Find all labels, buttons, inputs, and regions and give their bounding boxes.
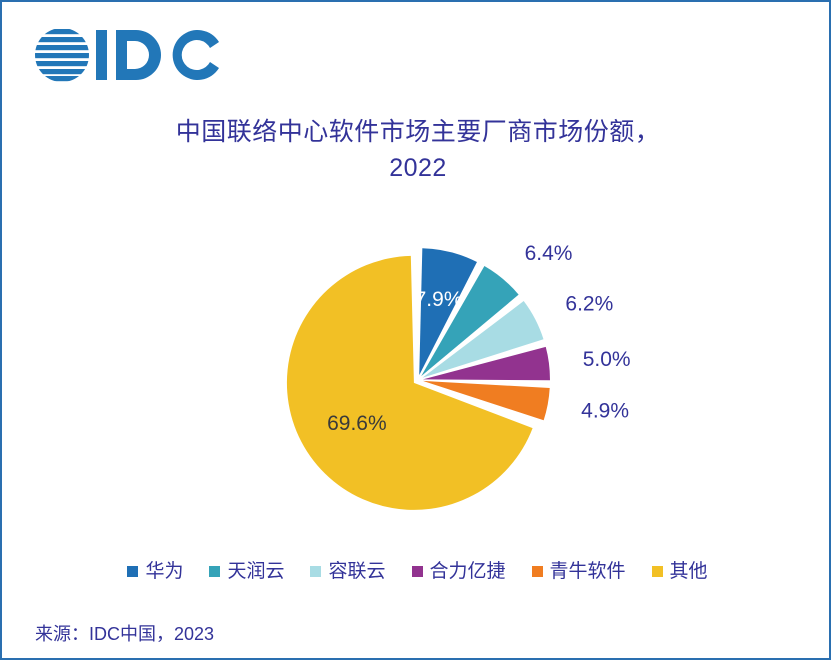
chart-page: 中国联络中心软件市场主要厂商市场份额， 2022 7.9%6.4%6.2%5.0… [0, 0, 831, 660]
legend-label: 容联云 [328, 562, 385, 581]
chart-legend: 华为天润云容联云合力亿捷青牛软件其他 [2, 562, 831, 581]
idc-wordmark [96, 30, 219, 80]
legend-item[interactable]: 天润云 [209, 562, 284, 581]
pie-slice-label: 7.9% [415, 288, 463, 311]
legend-swatch-icon [127, 566, 138, 577]
source-note: 来源：IDC中国，2023 [35, 620, 214, 646]
legend-label: 天润云 [227, 562, 284, 581]
legend-item[interactable]: 合力亿捷 [412, 562, 506, 581]
legend-swatch-icon [532, 566, 543, 577]
legend-label: 青牛软件 [550, 562, 626, 581]
pie-slice-label: 69.6% [327, 412, 387, 435]
legend-swatch-icon [652, 566, 663, 577]
legend-swatch-icon [412, 566, 423, 577]
pie-slice[interactable] [423, 381, 550, 420]
pie-data-labels: 7.9%6.4%6.2%5.0%4.9%69.6% [327, 242, 630, 435]
legend-label: 其他 [670, 562, 708, 581]
legend-swatch-icon [310, 566, 321, 577]
legend-swatch-icon [209, 566, 220, 577]
pie-slice-label: 6.2% [565, 293, 613, 316]
pie-slice-label: 6.4% [525, 242, 573, 265]
legend-item[interactable]: 华为 [127, 562, 183, 581]
pie-slice-label: 5.0% [583, 348, 631, 371]
chart-title: 中国联络中心软件市场主要厂商市场份额， 2022 [112, 114, 724, 186]
legend-label: 华为 [145, 562, 183, 581]
legend-label: 合力亿捷 [430, 562, 506, 581]
pie-slice[interactable] [423, 347, 550, 380]
pie-slice[interactable] [421, 266, 518, 376]
chart-title-line2: 2022 [112, 150, 724, 186]
pie-slice[interactable] [287, 256, 533, 510]
chart-title-line1: 中国联络中心软件市场主要厂商市场份额， [112, 114, 724, 150]
idc-logo [32, 24, 222, 86]
idc-logo-svg [32, 24, 222, 86]
idc-globe-icon [32, 29, 101, 81]
legend-item[interactable]: 容联云 [310, 562, 385, 581]
legend-item[interactable]: 其他 [652, 562, 708, 581]
pie-slice[interactable] [422, 301, 543, 378]
legend-item[interactable]: 青牛软件 [532, 562, 626, 581]
pie-slice-label: 4.9% [581, 400, 629, 423]
pie-slices [287, 248, 550, 510]
pie-slice[interactable] [419, 248, 477, 375]
